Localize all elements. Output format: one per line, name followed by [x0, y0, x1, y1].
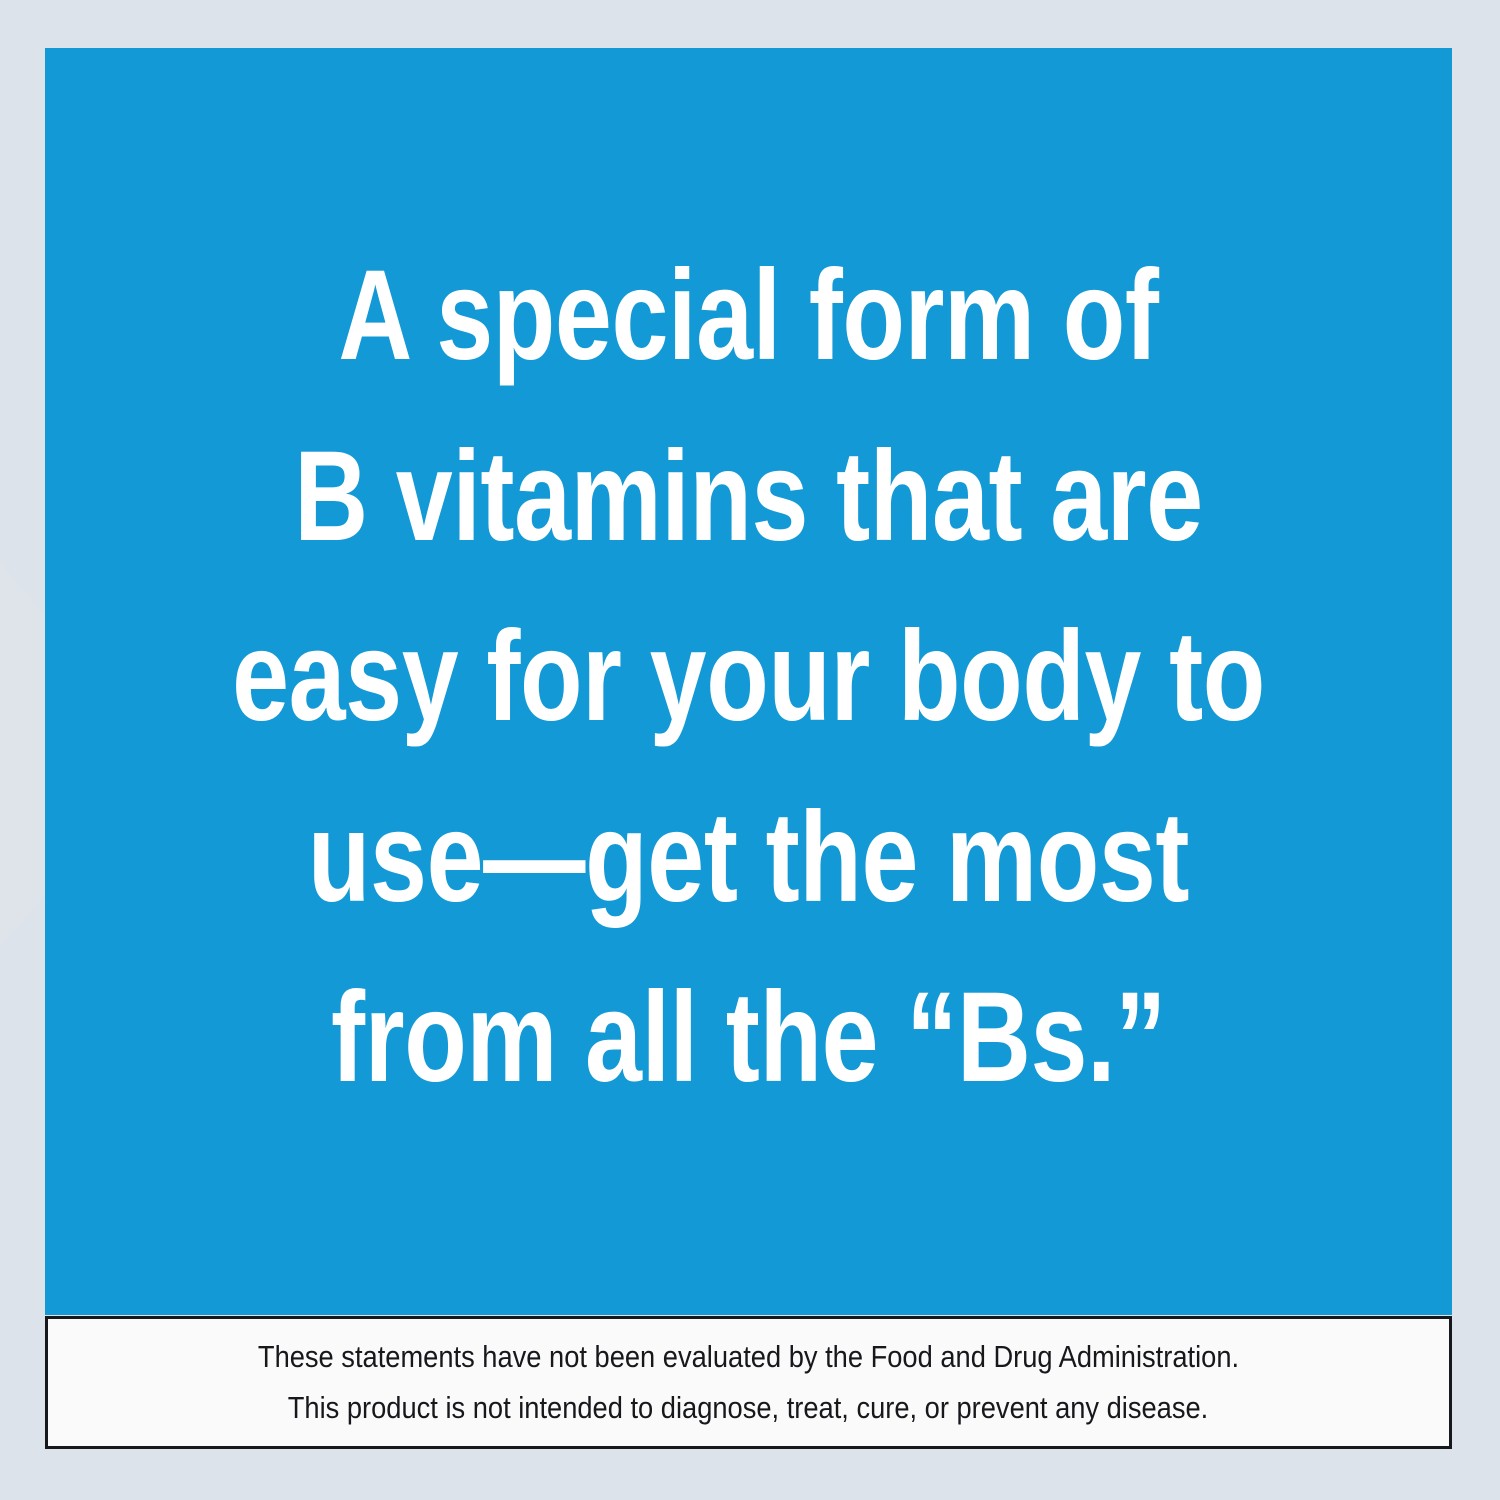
headline-line-1: A special form of — [186, 226, 1312, 406]
headline-line-3: easy for your body to — [186, 587, 1312, 767]
headline-line-2: B vitamins that are — [186, 407, 1312, 587]
page-title: A special form of B vitamins that are ea… — [186, 226, 1312, 1128]
fda-disclaimer-box: These statements have not been evaluated… — [45, 1316, 1452, 1449]
headline-line-5: from all the “Bs.” — [186, 948, 1312, 1128]
disclaimer-line-1: These statements have not been evaluated… — [258, 1332, 1239, 1382]
headline-line-4: use—get the most — [186, 768, 1312, 948]
blue-content-panel: A special form of B vitamins that are ea… — [45, 48, 1452, 1315]
disclaimer-line-2: This product is not intended to diagnose… — [288, 1383, 1208, 1433]
promo-panel-stage: A special form of B vitamins that are ea… — [0, 0, 1500, 1500]
